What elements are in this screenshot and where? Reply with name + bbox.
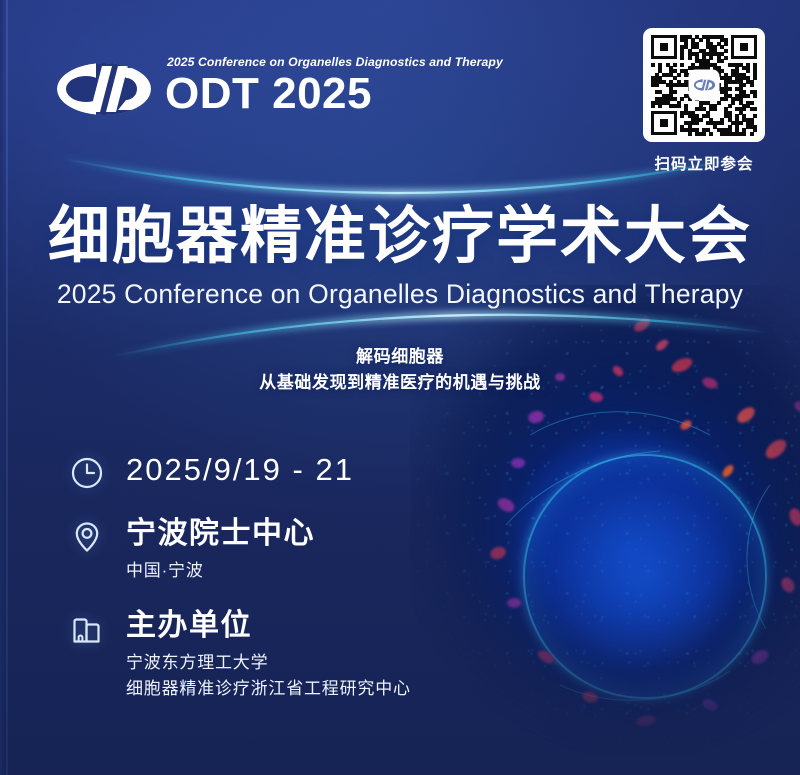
qr-caption: 扫码立即参会: [654, 152, 753, 174]
organizer-label: 主办单位: [126, 608, 411, 643]
venue-city: 中国·宁波: [126, 558, 315, 584]
logo-wordmark: ODT 2025: [165, 72, 503, 116]
event-date: 2025/9/19 - 21: [126, 452, 354, 489]
logo-kicker: 2025 Conference on Organelles Diagnostic…: [167, 56, 503, 68]
info-text-date: 2025/9/19 - 21: [126, 452, 354, 489]
map-pin-icon: [68, 518, 106, 556]
building-icon: [68, 610, 106, 648]
main-title-english: 2025 Conference on Organelles Diagnostic…: [0, 279, 800, 310]
cid-logo-icon: [56, 62, 152, 116]
info-row-date: 2025/9/19 - 21: [68, 452, 498, 492]
tagline: 解码细胞器 从基础发现到精准医疗的机遇与挑战: [0, 344, 800, 397]
info-text-organizer: 主办单位 宁波东方理工大学 细胞器精准诊疗浙江省工程研究中心: [126, 608, 411, 701]
organizer-names: 宁波东方理工大学 细胞器精准诊疗浙江省工程研究中心: [126, 650, 411, 701]
cid-logo-icon-small: [693, 79, 715, 92]
tagline-line-2: 从基础发现到精准医疗的机遇与挑战: [0, 370, 800, 396]
qr-code[interactable]: [643, 28, 765, 142]
info-text-venue: 宁波院士中心 中国·宁波: [126, 516, 315, 584]
qr-block[interactable]: 扫码立即参会: [643, 28, 765, 174]
brand-logo-block: 2025 Conference on Organelles Diagnostic…: [56, 56, 503, 116]
clock-icon: [68, 454, 106, 492]
info-row-venue: 宁波院士中心 中国·宁波: [68, 516, 498, 584]
info-row-organizer: 主办单位 宁波东方理工大学 细胞器精准诊疗浙江省工程研究中心: [68, 608, 498, 701]
main-title-chinese: 细胞器精准诊疗学术大会: [0, 204, 800, 269]
event-info-list: 2025/9/19 - 21 宁波院士中心 中国·宁波: [68, 452, 498, 701]
title-zone: 细胞器精准诊疗学术大会 2025 Conference on Organelle…: [0, 204, 800, 310]
qr-code-matrix: [651, 35, 757, 135]
conference-poster: 2025 Conference on Organelles Diagnostic…: [0, 0, 800, 775]
tagline-line-1: 解码细胞器: [0, 344, 800, 370]
brand-wordmark-text: 2025 Conference on Organelles Diagnostic…: [165, 56, 503, 116]
qr-center-logo: [689, 70, 720, 101]
venue-name: 宁波院士中心: [126, 516, 315, 551]
